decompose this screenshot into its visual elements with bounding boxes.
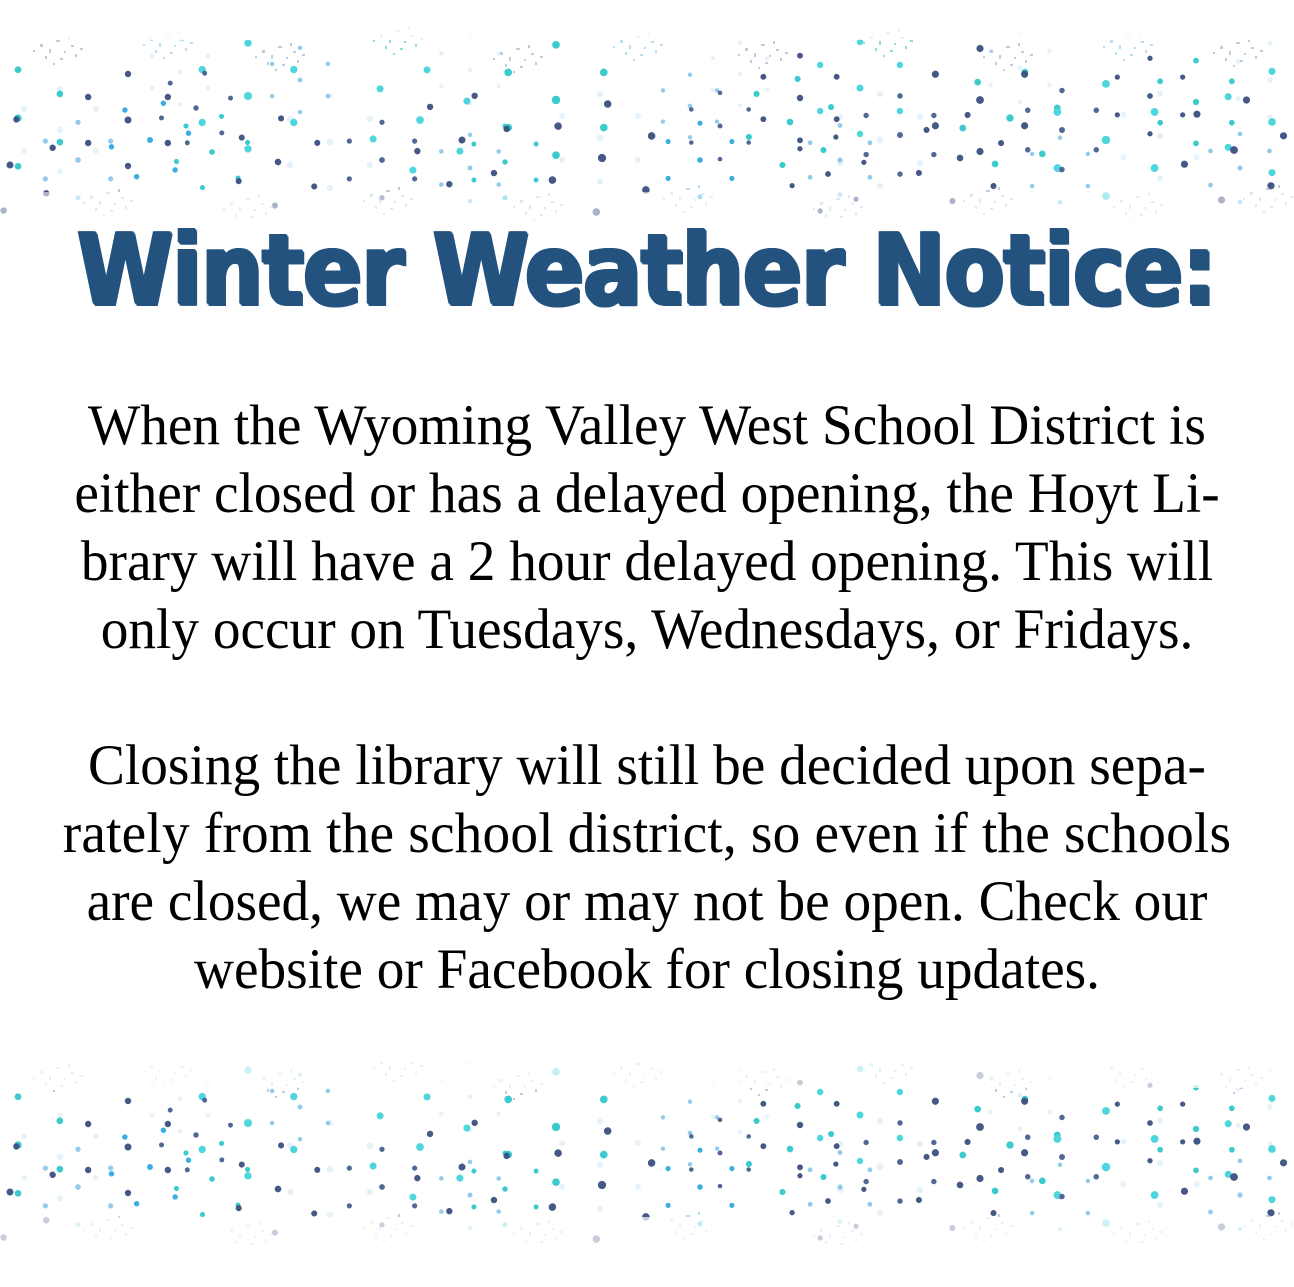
- snowflake-border-top: [0, 10, 1294, 220]
- body-line: When the Wyoming Valley West School Dist…: [23, 392, 1270, 460]
- body-line: brary will have a 2 hour delayed opening…: [23, 528, 1270, 596]
- winter-weather-notice-poster: Winter Weather Notice: When the Wyoming …: [0, 0, 1294, 1287]
- body-line: Closing the library will still be decide…: [23, 732, 1270, 800]
- notice-body: When the Wyoming Valley West School Dist…: [23, 392, 1270, 1004]
- snowflake-border-bottom-graphic: [0, 1062, 1294, 1247]
- paragraph-closing-policy: Closing the library will still be decide…: [23, 732, 1270, 1004]
- body-line: only occur on Tuesdays, Wednesdays, or F…: [23, 596, 1270, 664]
- paragraph-spacer: [23, 664, 1270, 732]
- paragraph-delay-policy: When the Wyoming Valley West School Dist…: [23, 392, 1270, 664]
- snowflake-border-top-graphic: [0, 10, 1294, 220]
- title-container: Winter Weather Notice:: [0, 236, 1294, 320]
- snowflake-border-bottom: [0, 1062, 1294, 1247]
- body-line: are closed, we may or may not be open. C…: [23, 868, 1270, 936]
- body-line: either closed or has a delayed opening, …: [23, 460, 1270, 528]
- body-line: website or Facebook for closing updates.: [23, 936, 1270, 1004]
- page-title: Winter Weather Notice:: [77, 221, 1216, 320]
- body-line: rately from the school district, so even…: [23, 800, 1270, 868]
